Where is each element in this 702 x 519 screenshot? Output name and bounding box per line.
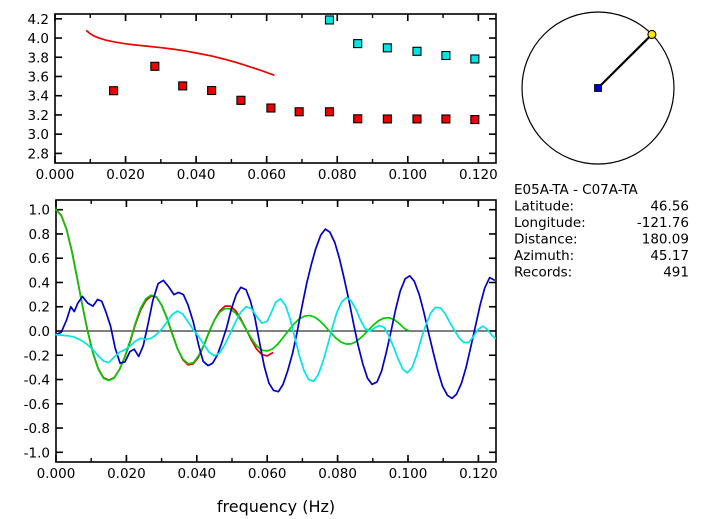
dispersion-panel-yticklabel: 4.2 [28,12,49,28]
info-panel-title: E05A-TA - C07A-TA [514,182,639,198]
cross-correlation-panel-yticklabel: -0.2 [24,348,50,364]
info-value-2: 180.09 [642,232,689,248]
info-value-0: 46.56 [650,199,689,215]
dispersion-panel-marker-red-squares [179,82,187,90]
info-value-4: 491 [663,265,689,281]
dispersion-panel-xticklabel: 0.120 [459,167,498,183]
info-value-1: -121.76 [637,215,689,231]
dispersion-panel-yticklabel: 3.4 [28,89,49,105]
station-center-marker [595,85,602,92]
dispersion-panel-yticklabel: 3.6 [28,69,49,85]
info-label-2: Distance: [514,232,578,248]
dispersion-panel-yticklabel: 4.0 [28,31,49,47]
cross-correlation-panel-xticklabel: 0.120 [459,466,498,482]
info-label-4: Records: [514,265,572,281]
dispersion-panel-marker-cyan-squares [442,52,450,60]
cross-correlation-panel-yticklabel: 0.6 [29,251,50,267]
station-endpoint-marker [648,30,656,38]
dispersion-panel-marker-red-squares [151,62,159,70]
dispersion-panel-xticklabel: 0.020 [106,167,145,183]
dispersion-panel-xticklabel: 0.100 [388,167,427,183]
x-axis-label: frequency (Hz) [217,497,335,516]
dispersion-panel-xticklabel: 0.040 [177,167,216,183]
cross-correlation-panel-yticklabel: -1.0 [24,445,50,461]
cross-correlation-panel-yticklabel: -0.6 [24,397,50,413]
figure-root: 0.0000.0200.0400.0600.0800.1000.1202.83.… [0,0,702,519]
dispersion-panel-marker-red-squares [354,115,362,123]
dispersion-panel-marker-red-squares [471,116,479,124]
info-label-0: Latitude: [514,199,574,215]
cross-correlation-panel-yticklabel: 1.0 [29,203,50,219]
dispersion-panel-marker-cyan-squares [471,55,479,63]
dispersion-panel-marker-red-squares [208,87,216,95]
cross-correlation-panel-xticklabel: 0.020 [107,466,146,482]
cross-correlation-panel-xticklabel: 0.060 [248,466,287,482]
cross-correlation-panel-trace-blue-trace [56,229,494,398]
cross-correlation-panel-yticklabel: 0.8 [29,227,50,243]
dispersion-panel-xticklabel: 0.060 [247,167,286,183]
info-value-3: 45.17 [650,248,689,264]
dispersion-panel-yticklabel: 3.2 [28,108,49,124]
dispersion-panel-frame [55,14,496,163]
seismic-figure-canvas: 0.0000.0200.0400.0600.0800.1000.1202.83.… [0,0,702,519]
info-label-3: Azimuth: [514,248,574,264]
dispersion-panel-marker-red-squares [383,115,391,123]
dispersion-panel-marker-red-squares [325,108,333,116]
info-label-1: Longitude: [514,215,586,231]
cross-correlation-panel-yticklabel: 0.4 [29,275,50,291]
dispersion-panel-marker-cyan-squares [354,40,362,48]
dispersion-panel-marker-cyan-squares [383,44,391,52]
dispersion-panel-yticklabel: 3.0 [28,127,49,143]
azimuth-ray [598,34,652,88]
cross-correlation-panel-trace-red-trace [56,210,272,380]
dispersion-panel-marker-red-squares [442,115,450,123]
dispersion-panel-marker-cyan-squares [413,47,421,55]
dispersion-panel-marker-red-squares [110,87,118,95]
cross-correlation-panel-yticklabel: -0.4 [24,373,50,389]
dispersion-panel-marker-red-squares [413,115,421,123]
cross-correlation-panel-xticklabel: 0.000 [37,466,76,482]
dispersion-panel-xticklabel: 0.000 [36,167,75,183]
dispersion-panel-yticklabel: 2.8 [28,146,49,162]
dispersion-panel-marker-red-squares [295,108,303,116]
dispersion-panel-marker-red-squares [237,96,245,104]
cross-correlation-panel-xticklabel: 0.100 [389,466,428,482]
dispersion-panel-marker-cyan-squares [325,16,333,24]
cross-correlation-panel-yticklabel: -0.8 [24,421,50,437]
dispersion-panel-yticklabel: 3.8 [28,50,49,66]
cross-correlation-panel-xticklabel: 0.040 [177,466,216,482]
dispersion-panel-marker-red-squares [267,104,275,112]
cross-correlation-panel-xticklabel: 0.080 [318,466,357,482]
dispersion-panel-xticklabel: 0.080 [318,167,357,183]
cross-correlation-panel-yticklabel: 0.0 [29,324,50,340]
cross-correlation-panel-trace-green-trace [56,210,408,381]
dispersion-panel-trace-red-curve [87,31,274,75]
cross-correlation-panel-yticklabel: 0.2 [29,300,50,316]
